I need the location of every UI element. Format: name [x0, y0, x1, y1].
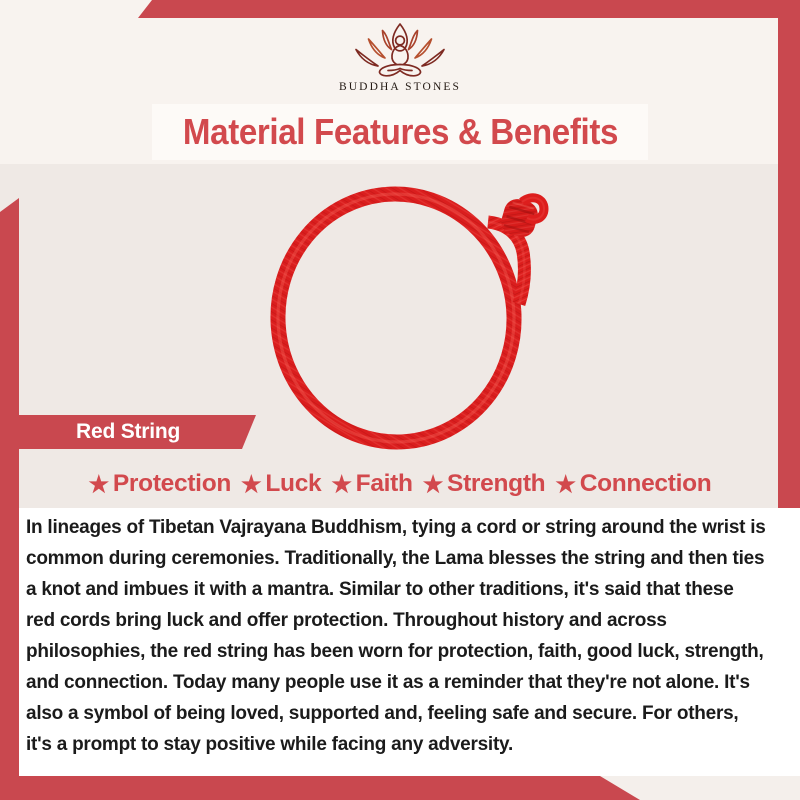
page-title: Material Features & Benefits — [182, 111, 617, 153]
benefit-label: Faith — [356, 470, 413, 498]
lotus-meditation-icon — [344, 18, 456, 80]
decorative-strip-left — [0, 198, 19, 800]
benefits-list: ★ Protection ★ Luck ★ Faith ★ Strength ★… — [22, 464, 778, 504]
benefit-item-connection: ★ Connection — [552, 470, 714, 498]
title-banner: Material Features & Benefits — [152, 104, 648, 160]
benefit-label: Strength — [447, 470, 545, 498]
benefit-label: Luck — [265, 470, 321, 498]
product-image — [236, 166, 566, 458]
star-icon: ★ — [241, 473, 261, 496]
description-panel: In lineages of Tibetan Vajrayana Buddhis… — [19, 508, 800, 776]
brand-logo: BUDDHA STONES — [0, 18, 800, 98]
benefit-item-protection: ★ Protection — [86, 470, 234, 498]
star-icon: ★ — [331, 473, 351, 496]
benefit-label: Protection — [113, 470, 231, 498]
benefit-item-luck: ★ Luck — [238, 470, 324, 498]
benefit-label: Connection — [580, 470, 712, 498]
product-label-ribbon: Red String — [16, 415, 256, 449]
star-icon: ★ — [89, 473, 109, 496]
description-text: In lineages of Tibetan Vajrayana Buddhis… — [26, 512, 767, 760]
decorative-ribbon-bottom — [0, 776, 640, 800]
star-icon: ★ — [555, 473, 575, 496]
product-label: Red String — [76, 420, 180, 444]
benefit-item-strength: ★ Strength — [420, 470, 549, 498]
brand-name: BUDDHA STONES — [339, 81, 461, 93]
benefit-item-faith: ★ Faith — [328, 470, 415, 498]
star-icon: ★ — [423, 473, 443, 496]
infographic-page: BUDDHA STONES Material Features & Benefi… — [0, 0, 800, 800]
